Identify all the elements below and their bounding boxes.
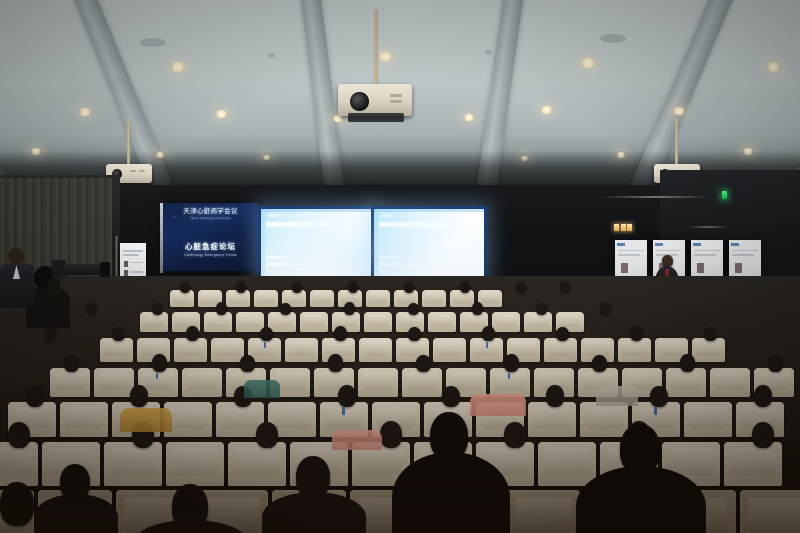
attendee-head	[0, 482, 34, 526]
attendee-head	[630, 326, 643, 341]
lanyard	[264, 342, 266, 348]
attendee-head	[704, 327, 717, 341]
attendee-head	[260, 327, 273, 341]
audience-seating	[0, 276, 800, 533]
banner-subtitle: Cardiology Emergency Forum	[163, 254, 258, 257]
attendee-clothing	[470, 394, 526, 416]
attendee-head	[592, 355, 607, 372]
lanyard	[508, 373, 510, 379]
attendee-head	[600, 302, 611, 315]
center-ceiling-projector	[330, 10, 420, 125]
telephoto-lens	[64, 264, 104, 275]
attendee-head	[280, 303, 291, 315]
chair	[140, 312, 168, 332]
chair	[358, 368, 398, 397]
attendee-clothing	[596, 386, 638, 406]
attendee-head	[408, 327, 421, 341]
attendee-head	[754, 385, 772, 407]
attendee-head	[152, 303, 163, 315]
chair	[166, 442, 224, 486]
chair	[236, 312, 264, 332]
chair	[740, 490, 800, 533]
wall-sign-glyph	[621, 224, 626, 231]
chair	[428, 312, 456, 332]
exit-sign-icon: EXIT	[722, 191, 727, 199]
attendee-head	[216, 302, 227, 315]
chair	[182, 368, 222, 397]
chair	[506, 490, 580, 533]
photographer	[30, 258, 108, 328]
chair	[174, 338, 207, 362]
standing-attendee	[0, 248, 34, 308]
attendee-head	[752, 422, 774, 448]
wall-light-strip	[600, 196, 710, 198]
lanyard	[654, 407, 657, 415]
attendee-head	[482, 326, 495, 341]
attendee-head	[380, 421, 402, 448]
attendee-head	[680, 354, 695, 372]
chair	[544, 338, 577, 362]
chair	[366, 290, 390, 307]
attendee-head	[292, 282, 302, 293]
banner-org-logo-sub: Tianjin Cardiology Conference	[163, 218, 258, 221]
attendee-head	[442, 386, 460, 407]
chair	[359, 338, 392, 362]
attendee-clothing	[332, 430, 382, 450]
attendee-head	[504, 422, 526, 448]
attendee-head	[236, 281, 246, 293]
lanyard	[156, 373, 158, 379]
attendee-head	[560, 281, 570, 293]
chair	[60, 402, 108, 437]
chair	[204, 312, 232, 332]
attendee-head	[8, 422, 30, 448]
attendee-head	[404, 282, 414, 293]
attendee-head	[64, 355, 79, 372]
conference-hall-photo: 出口指示 EXIT 天津心脏病学会议 Tianjin Cardiology Co…	[0, 0, 800, 533]
banner-org-logo: 天津心脏病学会议	[163, 209, 258, 216]
standing-attendee-head	[8, 248, 24, 265]
attendee-head	[460, 281, 470, 293]
lens-hood	[100, 262, 110, 277]
chair	[528, 402, 576, 437]
attendee-head	[334, 326, 347, 341]
attendee-head	[472, 302, 483, 315]
attendee-head	[130, 385, 148, 407]
attendee-head	[338, 385, 356, 407]
attendee-head	[416, 355, 431, 372]
attendee-head	[44, 327, 57, 341]
chair	[0, 442, 38, 486]
chair	[666, 368, 706, 397]
attendee-head	[348, 281, 358, 293]
attendee-head	[408, 303, 419, 315]
chair	[94, 368, 134, 397]
chair	[710, 368, 750, 397]
chair	[402, 368, 442, 397]
chair	[100, 338, 133, 362]
chair	[692, 338, 725, 362]
photographer-arm	[48, 278, 60, 300]
lanyard	[486, 342, 488, 348]
chair	[254, 290, 278, 307]
chair	[300, 312, 328, 332]
chair	[684, 402, 732, 437]
attendee-head	[26, 386, 44, 407]
attendee-head	[240, 355, 255, 372]
chair	[211, 338, 244, 362]
banner-title: 心脏急症论坛	[163, 243, 258, 251]
stage-banner: 天津心脏病学会议 Tianjin Cardiology Conference 心…	[163, 203, 258, 271]
wall-sign-glyph	[614, 224, 619, 231]
attendee-head	[256, 422, 278, 448]
banner-stand-edge	[160, 203, 163, 273]
attendee-head	[536, 303, 547, 315]
chair	[422, 290, 446, 307]
chair	[492, 312, 520, 332]
chair	[580, 402, 628, 437]
attendee-head	[186, 326, 199, 341]
wall-sign-glyph	[627, 224, 632, 231]
attendee-head	[344, 302, 355, 315]
lanyard	[342, 407, 345, 415]
attendee-head	[328, 354, 343, 372]
chair	[268, 312, 296, 332]
chair	[433, 338, 466, 362]
attendee-shoulders	[392, 452, 510, 533]
attendee-head	[504, 354, 519, 372]
chair	[724, 442, 782, 486]
chair	[364, 312, 392, 332]
chair	[618, 338, 651, 362]
chair	[538, 442, 596, 486]
attendee-head	[152, 354, 167, 372]
attendee-head	[546, 385, 564, 407]
attendee-head	[768, 355, 783, 372]
chair	[50, 368, 90, 397]
chair	[490, 368, 530, 397]
attendee-head	[516, 282, 526, 293]
wall-light-strip	[688, 226, 728, 228]
chair	[310, 290, 334, 307]
attendee-head	[112, 327, 125, 341]
chair	[104, 442, 162, 486]
attendee-head	[650, 386, 668, 407]
wall-sign: 出口指示	[614, 218, 634, 236]
chair	[285, 338, 318, 362]
attendee-head	[556, 327, 569, 341]
chair	[524, 312, 552, 332]
attendee-clothing	[120, 408, 172, 432]
attendee-head	[180, 282, 190, 293]
attendee-shoulders	[34, 494, 118, 533]
attendee-clothing	[244, 380, 280, 398]
chair	[228, 442, 286, 486]
